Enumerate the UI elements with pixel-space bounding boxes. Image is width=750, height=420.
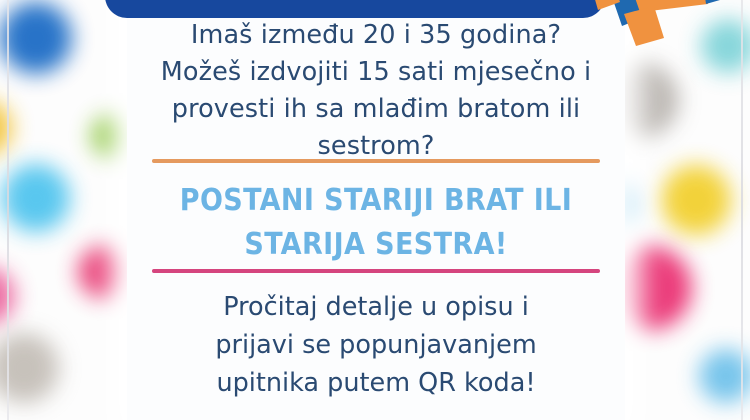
intro-line-1: Imaš između 20 i 35 godina? [137, 17, 615, 54]
headline-line-1: POSTANI STARIJI BRAT ILI [127, 179, 625, 223]
headline-text: POSTANI STARIJI BRAT ILI STARIJA SESTRA! [127, 179, 625, 267]
outro-line-2: prijavi se popunjavanjem [127, 326, 625, 364]
left-edge-line [7, 0, 9, 420]
intro-text: Imaš između 20 i 35 godina? Možeš izdvoj… [127, 17, 625, 165]
content-card: Imaš između 20 i 35 godina? Možeš izdvoj… [127, 0, 625, 420]
outro-text: Pročitaj detalje u opisu i prijavi se po… [127, 288, 625, 402]
divider-pink [152, 269, 600, 273]
intro-line-3: provesti ih sa mlađim bratom ili [137, 91, 615, 128]
dot-cyan [2, 164, 70, 232]
dot-yellow-left [0, 100, 12, 156]
megaphone-icon [580, 0, 750, 66]
headline-line-2: STARIJA SESTRA! [127, 223, 625, 267]
dot-blue-dark [0, 2, 72, 74]
dot-magenta-left [78, 246, 130, 298]
outro-line-3: upitnika putem QR koda! [127, 364, 625, 402]
intro-line-2: Možeš izdvojiti 15 sati mjesečno i [137, 54, 615, 91]
dot-yellow-right [661, 165, 731, 235]
top-banner [105, 0, 605, 18]
poster-canvas: Imaš između 20 i 35 godina? Možeš izdvoj… [0, 0, 750, 420]
divider-orange [152, 159, 600, 163]
outro-line-1: Pročitaj detalje u opisu i [127, 288, 625, 326]
